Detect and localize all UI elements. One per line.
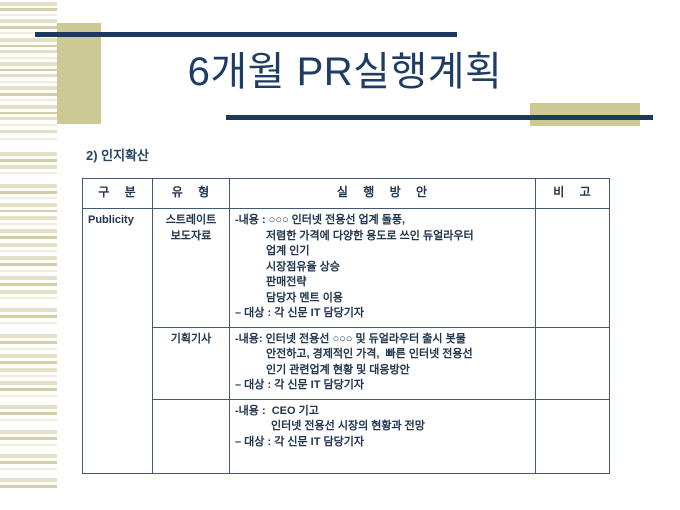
cell-note	[536, 399, 610, 473]
plan-line: -내용: 인터넷 전용선 ○○○ 및 듀얼라우터 출시 봇물	[235, 332, 530, 348]
decorative-stripe	[0, 124, 57, 126]
cell-type	[153, 399, 230, 473]
table-row: 기획기사-내용: 인터넷 전용선 ○○○ 및 듀얼라우터 출시 봇물안전하고, …	[83, 327, 610, 399]
cell-plan: -내용: 인터넷 전용선 ○○○ 및 듀얼라우터 출시 봇물안전하고, 경제적인…	[230, 327, 536, 399]
decorative-stripe	[0, 454, 57, 458]
decorative-stripe	[0, 152, 57, 156]
decorative-stripe	[0, 14, 57, 16]
decorative-stripe	[0, 341, 57, 344]
plan-table: 구 분 유 형 실 행 방 안 비 고 Publicity스트레이트보도자료-내…	[82, 178, 610, 474]
decorative-stripe	[0, 375, 57, 377]
decorative-stripe	[0, 81, 57, 83]
decorative-stripe	[0, 138, 57, 140]
type-line: 스트레이트	[158, 213, 224, 229]
decorative-stripe	[0, 263, 57, 266]
section-subtitle: 2) 인지확산	[86, 145, 149, 164]
decorative-stripe	[0, 45, 57, 47]
column-header-division: 구 분	[83, 179, 153, 209]
decorative-stripe	[0, 461, 57, 464]
decorative-stripe	[0, 419, 57, 421]
decorative-stripe	[0, 50, 57, 53]
decorative-stripe	[0, 112, 57, 114]
decorative-stripe	[0, 308, 57, 312]
decorative-stripe	[0, 165, 57, 169]
decorative-stripe	[0, 38, 57, 42]
decorative-stripe	[0, 444, 57, 446]
decorative-stripe	[0, 210, 57, 212]
cell-division: Publicity	[83, 209, 153, 474]
decorative-stripe	[0, 270, 57, 272]
decorative-stripe	[0, 290, 57, 294]
plan-line: – 대상 : 각 신문 IT 담당기자	[235, 306, 530, 322]
decorative-stripe	[0, 197, 57, 199]
plan-line: 안전하고, 경제적인 가격, 빠른 인터넷 전용선	[235, 347, 530, 363]
decorative-stripe	[0, 57, 57, 59]
khaki-block-left	[57, 23, 101, 124]
plan-line: -내용 : ○○○ 인터넷 전용선 업계 돌풍,	[235, 213, 530, 229]
plan-line: 저렴한 가격에 다양한 용도로 쓰인 듀얼라우터	[235, 229, 530, 245]
plan-line: – 대상 : 각 신문 IT 담당기자	[235, 435, 530, 451]
plan-line: -내용 : CEO 기고	[235, 404, 530, 420]
decorative-stripe	[0, 223, 57, 225]
decorative-stripe	[0, 62, 57, 66]
slide-canvas: 6개월 PR실행계획 2) 인지확산 구 분 유 형 실 행 방 안 비 고 P…	[0, 0, 680, 510]
decorative-stripe	[0, 348, 57, 350]
plan-line: 인기 관련업계 현황 및 대응방안	[235, 363, 530, 379]
decorative-stripe	[0, 412, 57, 415]
decorative-stripe	[0, 354, 57, 358]
decorative-stripe	[0, 485, 57, 488]
decorative-stripe	[0, 361, 57, 364]
decorative-stripe	[0, 322, 57, 324]
table-row: Publicity스트레이트보도자료-내용 : ○○○ 인터넷 전용선 업계 돌…	[83, 209, 610, 328]
decorative-stripe	[0, 172, 57, 174]
table-header-row: 구 분 유 형 실 행 방 안 비 고	[83, 179, 610, 209]
decorative-stripe	[0, 117, 57, 120]
decorative-stripe	[0, 437, 57, 440]
plan-line: 업계 인기	[235, 244, 530, 260]
column-header-type: 유 형	[153, 179, 230, 209]
decorative-stripe	[0, 191, 57, 194]
decorative-stripe	[0, 368, 57, 372]
plan-table-body: Publicity스트레이트보도자료-내용 : ○○○ 인터넷 전용선 업계 돌…	[83, 209, 610, 474]
decorative-stripe	[0, 243, 57, 247]
column-header-note: 비 고	[536, 179, 610, 209]
decorative-stripe	[0, 105, 57, 109]
decorative-stripe	[0, 430, 57, 434]
decorative-stripe	[0, 184, 57, 188]
plan-line: 담당자 멘트 이용	[235, 291, 530, 307]
cell-plan: -내용 : ○○○ 인터넷 전용선 업계 돌풍,저렴한 가격에 다양한 용도로 …	[230, 209, 536, 328]
decorative-stripe	[0, 159, 57, 162]
decorative-stripe	[0, 229, 57, 233]
decorative-stripe	[0, 405, 57, 409]
plan-line: 판매전략	[235, 275, 530, 291]
plan-line: – 대상 : 각 신문 IT 담당기자	[235, 378, 530, 394]
decorative-stripe	[0, 468, 57, 470]
column-header-plan: 실 행 방 안	[230, 179, 536, 209]
decorative-stripe	[0, 74, 57, 77]
navy-rule-bottom	[226, 115, 653, 120]
decorative-stripe	[0, 334, 57, 338]
decorative-stripe	[0, 93, 57, 96]
decorative-stripe	[0, 99, 57, 101]
cell-note	[536, 327, 610, 399]
decorative-stripe	[0, 236, 57, 239]
decorative-stripe	[0, 297, 57, 299]
striped-decoration-band	[0, 0, 57, 510]
decorative-stripe	[0, 381, 57, 385]
cell-note	[536, 209, 610, 328]
decorative-stripe	[0, 276, 57, 280]
cell-type: 스트레이트보도자료	[153, 209, 230, 328]
decorative-stripe	[0, 315, 57, 318]
decorative-stripe	[0, 8, 57, 11]
plan-line: 인터넷 전용선 시장의 현황과 전망	[235, 419, 530, 435]
decorative-stripe	[0, 388, 57, 391]
page-title: 6개월 PR실행계획	[110, 47, 580, 97]
cell-type: 기획기사	[153, 327, 230, 399]
decorative-stripe	[0, 283, 57, 286]
plan-line: 시장점유율 상승	[235, 260, 530, 276]
navy-rule-top	[35, 32, 457, 37]
decorative-stripe	[0, 19, 57, 23]
decorative-stripe	[0, 69, 57, 71]
decorative-stripe	[0, 216, 57, 220]
cell-plan: -내용 : CEO 기고인터넷 전용선 시장의 현황과 전망– 대상 : 각 신…	[230, 399, 536, 473]
decorative-stripe	[0, 478, 57, 482]
table-row: -내용 : CEO 기고인터넷 전용선 시장의 현황과 전망– 대상 : 각 신…	[83, 399, 610, 473]
type-line: 기획기사	[158, 332, 224, 348]
type-line: 보도자료	[158, 229, 224, 245]
decorative-stripe	[0, 26, 57, 29]
decorative-stripe	[0, 256, 57, 260]
decorative-stripe	[0, 203, 57, 207]
decorative-stripe	[0, 2, 57, 6]
decorative-stripe	[0, 130, 57, 133]
decorative-stripe	[0, 86, 57, 90]
decorative-stripe	[0, 250, 57, 252]
decorative-stripe	[0, 395, 57, 397]
